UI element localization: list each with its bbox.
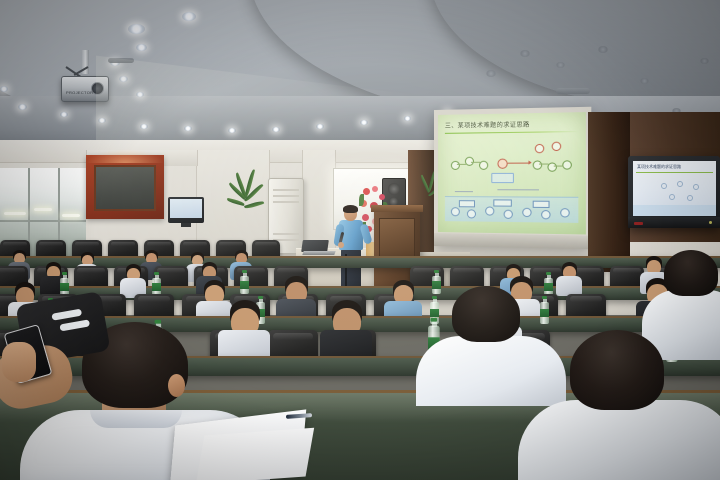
presentation-slide: 三、某项技术难题的求证思路 (438, 112, 586, 234)
downlight-off-icon (520, 50, 530, 57)
slide-title-underline (445, 131, 578, 134)
tv-screen: 某项技术难题的求证思路 (633, 161, 716, 216)
wall-display-panel-surface (94, 165, 156, 211)
downlight-icon (360, 120, 368, 125)
wall-tv-monitor: 某项技术难题的求证思路 (628, 156, 720, 228)
projector-brand-label: PROJECTOR (66, 90, 93, 95)
potted-plant (226, 168, 266, 230)
downlight-icon (0, 86, 8, 92)
tv-slide-underline (636, 172, 713, 173)
tv-power-led-icon (709, 221, 712, 224)
attendee-hair (664, 250, 718, 296)
attendee-with-phone (0, 300, 124, 440)
tv-slide-title: 某项技术难题的求证思路 (633, 161, 716, 170)
attendee-shirt (518, 400, 720, 480)
side-monitor (168, 197, 204, 223)
foreground-attendee-right (540, 330, 710, 480)
panel-uplight (86, 149, 164, 163)
downlight-icon (272, 127, 280, 132)
attendee-hand (2, 342, 36, 382)
downlight-icon (18, 104, 27, 110)
downlight-icon (136, 44, 147, 51)
downlight-off-icon (556, 62, 565, 68)
downlight-icon (119, 76, 128, 82)
attendee-hair (452, 286, 520, 342)
attendee-hair (570, 330, 664, 410)
downlight-icon (228, 128, 236, 133)
presenter-hair (343, 205, 358, 213)
downlight-icon (140, 124, 148, 129)
downlight-icon (128, 24, 145, 34)
ceiling-vent (556, 88, 590, 94)
downlight-icon (98, 118, 106, 123)
attendee-midright (430, 286, 550, 406)
tv-bezel (628, 217, 720, 228)
downlight-off-icon (640, 78, 649, 84)
conference-hall-photo: PROJECTOR (0, 0, 720, 480)
downlight-icon (182, 12, 196, 21)
exterior-light (4, 212, 26, 215)
projection-screen: 三、某项技术难题的求证思路 (434, 107, 591, 250)
exterior-light (34, 208, 52, 211)
downlight-icon (316, 124, 324, 129)
downlight-icon (136, 92, 144, 97)
side-monitor-stand (181, 223, 191, 227)
window-mullion (0, 220, 86, 222)
downlight-off-icon (598, 46, 608, 53)
podium-top (371, 205, 423, 212)
attendee-ear (168, 374, 185, 397)
side-monitor-screen (170, 199, 202, 218)
tv-slide-footer (633, 205, 716, 216)
projection-screen-surface: 三、某项技术难题的求证思路 (438, 112, 586, 234)
ceiling-projector: PROJECTOR (58, 50, 114, 108)
slide-footer-strip (445, 196, 578, 223)
exterior-light (62, 214, 80, 217)
handout-papers-second[interactable] (196, 428, 314, 480)
downlight-off-icon (700, 58, 709, 64)
wall-display-panel (86, 155, 164, 219)
downlight-icon (184, 126, 192, 131)
slide-diagram (445, 137, 578, 223)
downlight-off-icon (486, 70, 496, 77)
tv-brand-logo (634, 222, 643, 225)
slide-title: 三、某项技术难题的求证思路 (445, 118, 578, 129)
downlight-icon (60, 112, 68, 117)
projector-body: PROJECTOR (61, 76, 109, 102)
downlight-icon (404, 116, 411, 121)
